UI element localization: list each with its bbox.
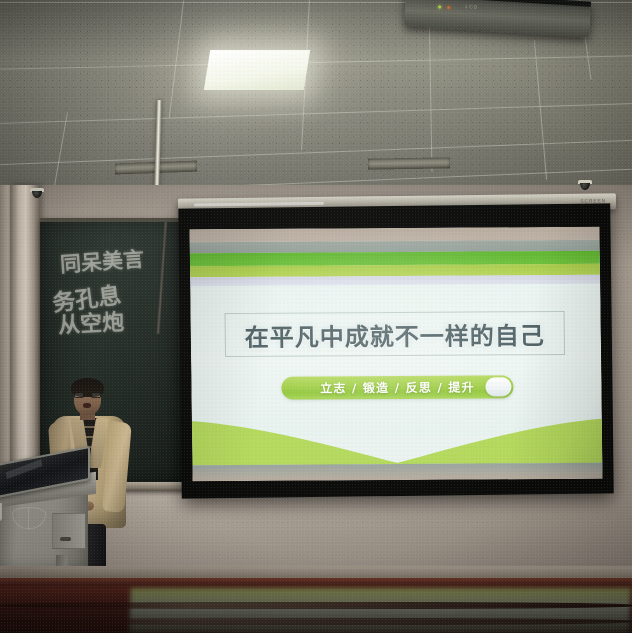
ceiling-light-panel [204,50,310,90]
projector-top-edge [406,0,591,7]
camera-dome [580,183,590,190]
glasses-icon [74,392,101,398]
projected-slide-surface: 在平凡中成就不一样的自己 立志 / 锻造 / 反思 / 提升 [189,227,602,481]
glasses-lens-right [91,392,101,398]
chalk-writing-line: 同呆美言 [59,243,145,279]
lectern-drawer[interactable] [52,513,86,549]
monitor-glare [6,459,43,479]
slide-title: 在平凡中成就不一样的自己 [225,311,566,357]
projection-screen: 在平凡中成就不一样的自己 立志 / 锻造 / 反思 / 提升 [178,203,614,498]
presentation-slide: 在平凡中成就不一样的自己 立志 / 锻造 / 反思 / 提升 [189,227,602,481]
projector-power-led [438,5,441,8]
security-camera-icon [578,180,592,190]
chalk-writing-line: 从空炮 [57,304,125,339]
camera-dome [32,191,42,198]
slide-bottom-band [192,463,602,482]
floor-board-seam [0,618,632,625]
classroom-scene: LCD 同呆美言 务孔息 从空炮 SCREEN [0,0,632,633]
glasses-lens-left [74,392,84,398]
projector-brand-label: LCD [465,4,478,11]
lectern-cup [0,503,2,521]
presenter-mouth [83,403,91,408]
lectern-drawer-handle[interactable] [60,537,71,541]
slide-subtitle-text: 立志 / 锻造 / 反思 / 提升 [320,379,475,397]
slide-wave-front-icon [192,415,603,466]
glasses-bridge [84,394,91,395]
floor-board-seam [0,602,632,609]
housing-highlight [194,202,324,207]
stage-front-edge [0,578,632,584]
ceiling: LCD [0,0,632,200]
projector-status-led [447,6,450,9]
pill-knob-icon [485,377,511,396]
ceiling-air-vent [368,157,450,169]
floor-screen-reflection [129,588,631,633]
slide-subtitle-pill: 立志 / 锻造 / 反思 / 提升 [281,375,513,399]
stage-floor [0,578,632,633]
security-camera-icon [30,188,44,198]
